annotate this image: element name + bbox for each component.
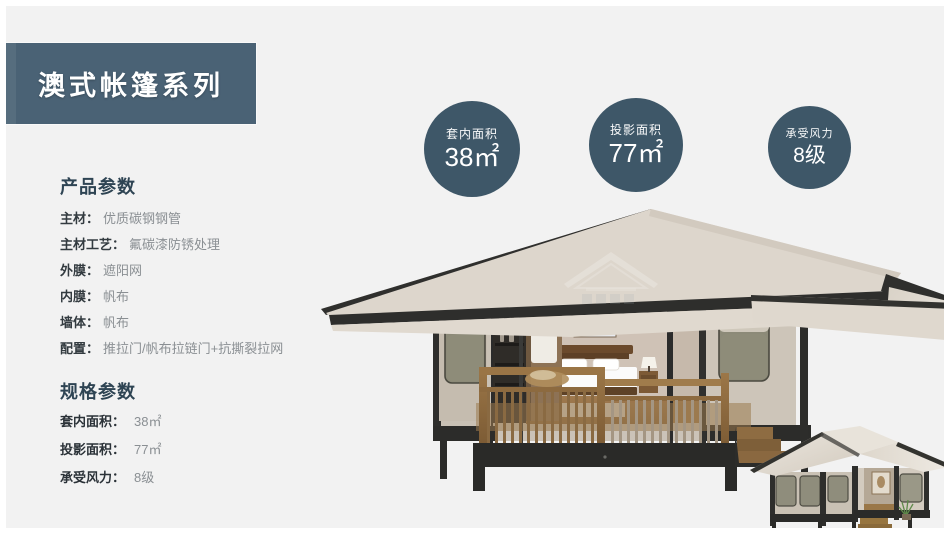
param-label: 外膜： <box>60 258 99 284</box>
badge-value: 77㎡ <box>609 140 664 167</box>
param-row: 墙体： 帆布 <box>60 310 350 336</box>
param-row: 内膜： 帆布 <box>60 284 350 310</box>
spec-value: 77㎡ <box>134 436 161 464</box>
thumbnail-tent-image <box>748 424 950 534</box>
badge-value: 8级 <box>793 145 826 167</box>
param-value: 优质碳钢钢管 <box>103 206 181 232</box>
slide-canvas: 澳式帐篷系列 产品参数 主材： 优质碳钢钢管 主材工艺： 氟碳漆防锈处理 外膜：… <box>0 0 950 534</box>
badge-label: 投影面积 <box>610 123 662 137</box>
page-title: 澳式帐篷系列 <box>38 64 224 103</box>
badge-wind-resistance: 承受风力 8级 <box>768 106 851 189</box>
product-params-heading: 产品参数 <box>60 173 136 199</box>
spec-params-list: 套内面积： 38㎡ 投影面积： 77㎡ 承受风力： 8级 <box>60 408 350 492</box>
spec-params-heading: 规格参数 <box>60 378 136 404</box>
badge-label: 套内面积 <box>446 127 498 141</box>
param-value: 氟碳漆防锈处理 <box>129 232 220 258</box>
spec-label: 投影面积： <box>60 436 125 464</box>
product-params-list: 主材： 优质碳钢钢管 主材工艺： 氟碳漆防锈处理 外膜： 遮阳网 内膜： 帆布 … <box>60 206 350 362</box>
badge-value: 38㎡ <box>445 144 500 171</box>
param-label: 墙体： <box>60 310 99 336</box>
badge-projected-area: 投影面积 77㎡ <box>589 98 683 192</box>
spec-row: 投影面积： 77㎡ <box>60 436 350 464</box>
param-label: 主材工艺： <box>60 232 125 258</box>
spec-row: 承受风力： 8级 <box>60 464 350 492</box>
spec-value: 38㎡ <box>134 408 161 436</box>
param-value: 遮阳网 <box>103 258 142 284</box>
param-value: 推拉门/帆布拉链门+抗撕裂拉网 <box>103 336 283 362</box>
param-value: 帆布 <box>103 310 129 336</box>
spec-label: 承受风力： <box>60 464 125 492</box>
param-row: 外膜： 遮阳网 <box>60 258 350 284</box>
badge-interior-area: 套内面积 38㎡ <box>424 101 520 197</box>
thumbnail-tent-illustration <box>748 424 950 534</box>
title-banner: 澳式帐篷系列 <box>6 43 256 124</box>
param-label: 配置： <box>60 336 99 362</box>
param-row: 主材： 优质碳钢钢管 <box>60 206 350 232</box>
spec-row: 套内面积： 38㎡ <box>60 408 350 436</box>
spec-value: 8级 <box>134 464 154 492</box>
banner-left-strip <box>6 43 16 124</box>
badge-label: 承受风力 <box>786 128 834 141</box>
param-label: 内膜： <box>60 284 99 310</box>
param-row: 配置： 推拉门/帆布拉链门+抗撕裂拉网 <box>60 336 350 362</box>
param-value: 帆布 <box>103 284 129 310</box>
spec-label: 套内面积： <box>60 408 125 436</box>
param-label: 主材： <box>60 206 99 232</box>
param-row: 主材工艺： 氟碳漆防锈处理 <box>60 232 350 258</box>
